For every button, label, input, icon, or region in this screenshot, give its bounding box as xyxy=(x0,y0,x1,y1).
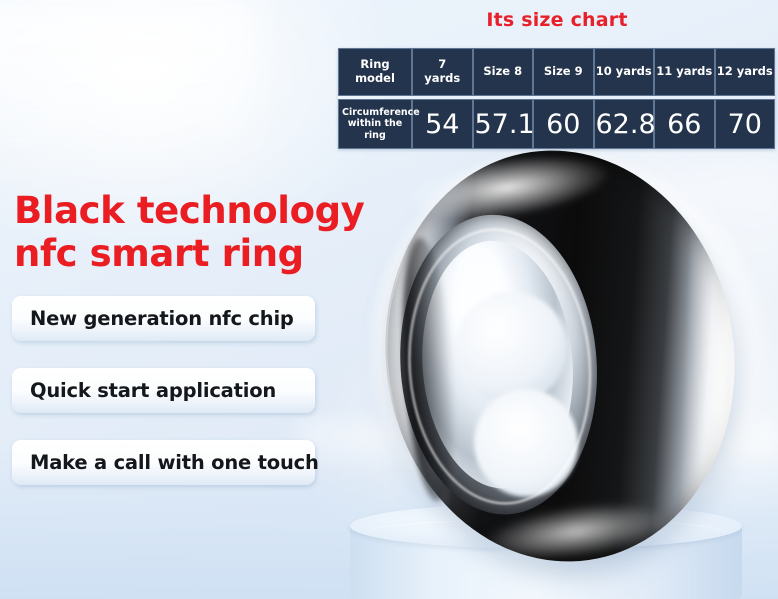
table-cell-model-2: Size 9 xyxy=(533,48,594,96)
table-cell-model-4: 11 yards xyxy=(654,48,715,96)
feature-label: Make a call with one touch xyxy=(12,451,319,474)
table-cell-circumference-1: 57.1 xyxy=(473,99,534,149)
table-cell-circumference-0: 54 xyxy=(412,99,473,149)
size-chart-table: Ring model 7 yards Size 8 Size 9 10 yard… xyxy=(338,48,775,149)
table-cell-circumference-5: 70 xyxy=(715,99,776,149)
table-cell-model-5: 12 yards xyxy=(715,48,776,96)
feature-pill-new-generation-nfc-chip: New generation nfc chip xyxy=(12,296,315,341)
row-header-ring-model: Ring model xyxy=(338,48,412,96)
table-cell-model-0: 7 yards xyxy=(412,48,473,96)
headline-line-2: nfc smart ring xyxy=(14,232,374,276)
row-header-circumference: Circumference within the ring xyxy=(338,99,412,149)
feature-pill-quick-start-application: Quick start application xyxy=(12,368,315,413)
table-row-circumference: Circumference within the ring 54 57.1 60… xyxy=(338,99,775,149)
feature-pill-make-a-call-with-one-touch: Make a call with one touch xyxy=(12,440,315,485)
feature-label: Quick start application xyxy=(12,379,276,402)
page-title: Black technology nfc smart ring xyxy=(14,189,374,276)
table-cell-circumference-4: 66 xyxy=(654,99,715,149)
feature-label: New generation nfc chip xyxy=(12,307,294,330)
size-chart-title: Its size chart xyxy=(338,9,776,31)
headline-line-1: Black technology xyxy=(14,189,374,233)
table-row-ring-model: Ring model 7 yards Size 8 Size 9 10 yard… xyxy=(338,48,775,96)
smart-ring-product-photo xyxy=(359,128,761,584)
table-cell-model-3: 10 yards xyxy=(594,48,655,96)
table-cell-circumference-2: 60 xyxy=(533,99,594,149)
model-line-2: yards xyxy=(414,72,471,86)
background-panel-left xyxy=(0,0,260,200)
table-cell-model-1: Size 8 xyxy=(473,48,534,96)
model-line-1: 7 xyxy=(414,58,471,72)
product-poster: Black technology nfc smart ring New gene… xyxy=(0,0,778,599)
table-cell-circumference-3: 62.8 xyxy=(594,99,655,149)
